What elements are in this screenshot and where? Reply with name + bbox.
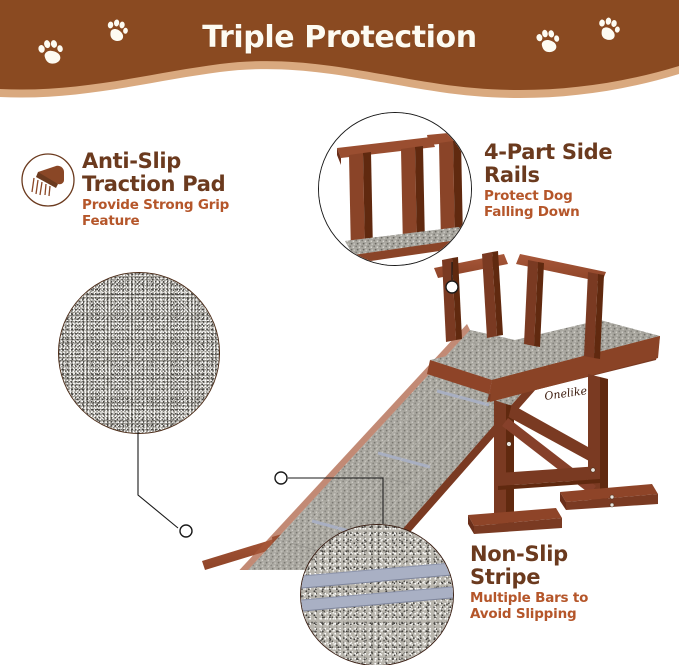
callout-title-traction-pad: Anti-Slip Traction Pad bbox=[82, 150, 282, 195]
scrub-brush-icon bbox=[20, 152, 76, 208]
paw-print-left-upper bbox=[101, 16, 130, 45]
carpet-texture-striped bbox=[301, 525, 453, 665]
callout-subtitle-non-slip-stripe: Multiple Bars to Avoid Slipping bbox=[470, 591, 670, 622]
callout-label-non-slip-stripe: Non-Slip Stripe Multiple Bars to Avoid S… bbox=[470, 543, 670, 622]
callout-label-traction-pad: Anti-Slip Traction Pad Provide Strong Gr… bbox=[82, 150, 282, 229]
brand-label: Onelike bbox=[544, 384, 589, 403]
callout-subtitle-side-rails: Protect Dog Falling Down bbox=[484, 189, 674, 220]
callout-bubble-non-slip-stripe bbox=[300, 524, 454, 665]
callout-subtitle-traction-pad: Provide Strong Grip Feature bbox=[82, 198, 282, 229]
carpet-texture bbox=[59, 273, 219, 433]
banner-wave-fill bbox=[0, 0, 679, 90]
callout-label-side-rails: 4-Part Side Rails Protect Dog Falling Do… bbox=[484, 141, 674, 220]
non-slip-stripe-bar-lower bbox=[300, 586, 454, 613]
callout-title-non-slip-stripe: Non-Slip Stripe bbox=[470, 543, 670, 588]
callout-title-side-rails: 4-Part Side Rails bbox=[484, 141, 674, 186]
paw-print-right-upper bbox=[592, 14, 623, 45]
infographic-canvas: Triple Protection bbox=[0, 0, 679, 665]
non-slip-stripe-bar-upper bbox=[300, 562, 454, 590]
paw-print-right-lower bbox=[531, 26, 563, 58]
banner-wave-shape bbox=[0, 0, 679, 120]
callout-bubble-traction-pad bbox=[58, 272, 220, 434]
header-banner: Triple Protection bbox=[0, 0, 679, 120]
callout-bubble-side-rails bbox=[318, 112, 472, 266]
